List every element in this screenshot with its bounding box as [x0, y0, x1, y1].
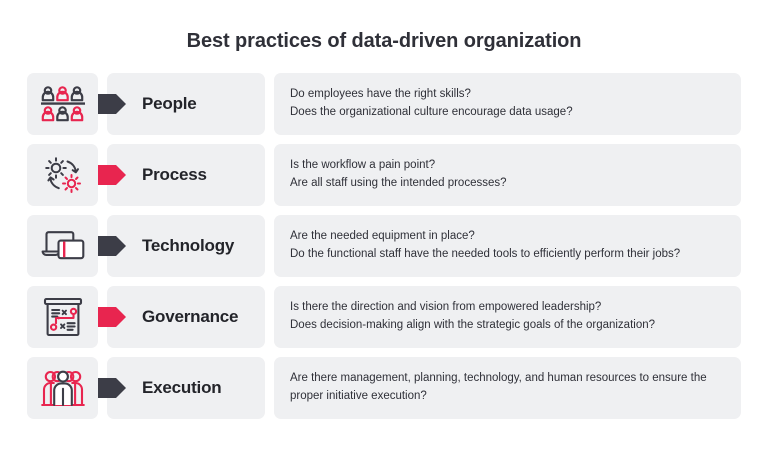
arrow-marker-icon [98, 372, 130, 404]
description-line: Does decision-making align with the stra… [290, 317, 725, 335]
description-line: Do the functional staff have the needed … [290, 246, 725, 264]
practice-row: People Do employees have the right skill… [27, 73, 741, 135]
arrow-marker-icon [98, 301, 130, 333]
label-card-governance[interactable]: Governance [107, 286, 265, 348]
practice-row: Process Is the workflow a pain point? Ar… [27, 144, 741, 206]
description-line: Is there the direction and vision from e… [290, 299, 725, 317]
practice-row: Execution Are there management, planning… [27, 357, 741, 419]
label-card-people[interactable]: People [107, 73, 265, 135]
gears-process-icon [42, 155, 84, 195]
practice-row: Governance Is there the direction and vi… [27, 286, 741, 348]
description-card-process: Is the workflow a pain point? Are all st… [274, 144, 741, 206]
description-line: Are all staff using the intended process… [290, 175, 725, 193]
description-line: Does the organizational culture encourag… [290, 104, 725, 122]
infographic-page: Best practices of data-driven organizati… [0, 0, 768, 463]
icon-card-process [27, 144, 98, 206]
icon-card-governance [27, 286, 98, 348]
description-line: Do employees have the right skills? [290, 86, 725, 104]
description-card-people: Do employees have the right skills? Does… [274, 73, 741, 135]
description-line: Are there management, planning, technolo… [290, 370, 725, 406]
laptop-tablet-technology-icon [41, 228, 85, 264]
arrow-marker-icon [98, 88, 130, 120]
arrow-marker-icon [98, 159, 130, 191]
icon-card-execution [27, 357, 98, 419]
description-line: Are the needed equipment in place? [290, 228, 725, 246]
practice-row: Technology Are the needed equipment in p… [27, 215, 741, 277]
label-card-technology[interactable]: Technology [107, 215, 265, 277]
description-card-technology: Are the needed equipment in place? Do th… [274, 215, 741, 277]
label-card-execution[interactable]: Execution [107, 357, 265, 419]
people-group-icon [41, 85, 85, 123]
page-title: Best practices of data-driven organizati… [0, 0, 768, 53]
icon-card-people [27, 73, 98, 135]
strategy-board-governance-icon [43, 297, 83, 337]
practice-rows-list: People Do employees have the right skill… [0, 73, 768, 419]
icon-card-technology [27, 215, 98, 277]
description-line: Is the workflow a pain point? [290, 157, 725, 175]
label-card-process[interactable]: Process [107, 144, 265, 206]
team-execution-icon [41, 368, 85, 408]
description-card-execution: Are there management, planning, technolo… [274, 357, 741, 419]
arrow-marker-icon [98, 230, 130, 262]
description-card-governance: Is there the direction and vision from e… [274, 286, 741, 348]
